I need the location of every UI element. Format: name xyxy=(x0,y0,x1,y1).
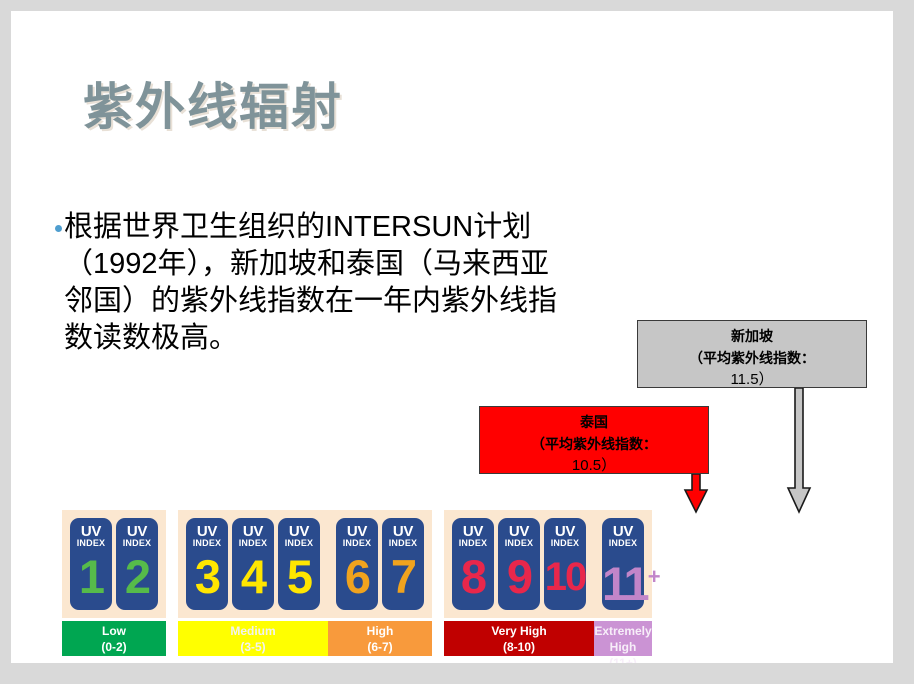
uv-band-high: High(6-7) xyxy=(328,621,432,656)
uv-band-range: (11+) xyxy=(594,655,652,663)
uv-card-3[interactable]: UVINDEX3 xyxy=(186,518,228,610)
uv-card-sublabel: INDEX xyxy=(452,539,494,548)
uv-card-sublabel: INDEX xyxy=(602,539,644,548)
uv-band-label: Very High xyxy=(444,623,594,639)
uv-group-high: UVINDEX6UVINDEX7High(6-7) xyxy=(328,510,432,618)
uv-card-label: UV xyxy=(186,524,228,539)
uv-card-label: UV xyxy=(70,524,112,539)
uv-index-scale: UVINDEX1UVINDEX2Low(0-2)UVINDEX3UVINDEX4… xyxy=(62,510,862,656)
uv-band-label: Low xyxy=(62,623,166,639)
uv-band-label: Medium xyxy=(178,623,328,639)
uv-card-11plus[interactable]: UVINDEX11+ xyxy=(602,518,644,610)
body-text-block: 根据世界卫生组织的INTERSUN计划（1992年），新加坡和泰国（马来西亚邻国… xyxy=(55,209,575,357)
uv-card-6[interactable]: UVINDEX6 xyxy=(336,518,378,610)
uv-card-number: 3 xyxy=(186,548,228,606)
uv-cards-container: UVINDEX1UVINDEX2 xyxy=(62,510,166,618)
uv-group-very-high: UVINDEX8UVINDEX9UVINDEX10Very High(8-10) xyxy=(444,510,594,618)
uv-card-label: UV xyxy=(382,524,424,539)
uv-card-number: 5 xyxy=(278,548,320,606)
uv-card-sublabel: INDEX xyxy=(544,539,586,548)
uv-card-label: UV xyxy=(278,524,320,539)
uv-card-label: UV xyxy=(602,524,644,539)
uv-band-label: High xyxy=(328,623,432,639)
uv-band-range: (0-2) xyxy=(62,639,166,655)
uv-card-number: 2 xyxy=(116,548,158,606)
uv-cards-container: UVINDEX3UVINDEX4UVINDEX5 xyxy=(178,510,328,618)
uv-card-number: 8 xyxy=(452,548,494,606)
uv-card-number: 4 xyxy=(232,548,274,606)
uv-card-label: UV xyxy=(232,524,274,539)
uv-group-medium: UVINDEX3UVINDEX4UVINDEX5Medium(3-5) xyxy=(178,510,328,618)
uv-card-sublabel: INDEX xyxy=(498,539,540,548)
uv-card-label: UV xyxy=(116,524,158,539)
callout-thailand: 泰国 （平均紫外线指数： 10.5） xyxy=(479,406,709,474)
uv-band-extremely-high: Extremely High(11+) xyxy=(594,621,652,656)
callout-singapore-line1: 新加坡 xyxy=(638,325,866,347)
arrow-down-thailand-icon xyxy=(683,474,709,514)
callout-singapore-line3: 11.5） xyxy=(638,369,866,391)
uv-card-number: 1 xyxy=(70,548,112,606)
uv-card-7[interactable]: UVINDEX7 xyxy=(382,518,424,610)
callout-thailand-line2: （平均紫外线指数： xyxy=(480,433,708,455)
uv-band-very-high: Very High(8-10) xyxy=(444,621,594,656)
uv-cards-container: UVINDEX6UVINDEX7 xyxy=(328,510,432,618)
uv-card-4[interactable]: UVINDEX4 xyxy=(232,518,274,610)
uv-card-number: 6 xyxy=(336,548,378,606)
uv-band-low: Low(0-2) xyxy=(62,621,166,656)
uv-card-sublabel: INDEX xyxy=(336,539,378,548)
uv-card-sublabel: INDEX xyxy=(382,539,424,548)
uv-card-label: UV xyxy=(336,524,378,539)
uv-card-number: 11+ xyxy=(602,548,644,613)
uv-card-8[interactable]: UVINDEX8 xyxy=(452,518,494,610)
callout-thailand-line3: 10.5） xyxy=(480,455,708,477)
uv-band-label: Extremely High xyxy=(594,623,652,655)
uv-card-sublabel: INDEX xyxy=(186,539,228,548)
bullet-text: 根据世界卫生组织的INTERSUN计划（1992年），新加坡和泰国（马来西亚邻国… xyxy=(64,209,575,357)
uv-band-medium: Medium(3-5) xyxy=(178,621,328,656)
uv-card-1[interactable]: UVINDEX1 xyxy=(70,518,112,610)
uv-card-sublabel: INDEX xyxy=(70,539,112,548)
callout-singapore: 新加坡 （平均紫外线指数： 11.5） xyxy=(637,320,867,388)
page-title: 紫外线辐射 xyxy=(83,67,343,139)
callout-thailand-line1: 泰国 xyxy=(480,411,708,433)
uv-card-number: 9 xyxy=(498,548,540,606)
slide-canvas: 紫外线辐射 根据世界卫生组织的INTERSUN计划（1992年），新加坡和泰国（… xyxy=(11,11,893,663)
uv-card-label: UV xyxy=(452,524,494,539)
bullet-dot-icon xyxy=(55,225,62,232)
uv-card-2[interactable]: UVINDEX2 xyxy=(116,518,158,610)
uv-group-extremely-high: UVINDEX11+Extremely High(11+) xyxy=(594,510,652,618)
uv-card-number: 7 xyxy=(382,548,424,606)
uv-band-range: (3-5) xyxy=(178,639,328,655)
uv-card-label: UV xyxy=(544,524,586,539)
uv-card-number: 10 xyxy=(544,548,586,606)
arrow-down-singapore-icon xyxy=(786,388,812,514)
uv-card-9[interactable]: UVINDEX9 xyxy=(498,518,540,610)
callout-singapore-line2: （平均紫外线指数： xyxy=(638,347,866,369)
uv-card-5[interactable]: UVINDEX5 xyxy=(278,518,320,610)
uv-card-sublabel: INDEX xyxy=(278,539,320,548)
uv-cards-container: UVINDEX11+ xyxy=(594,510,652,618)
bullet-item: 根据世界卫生组织的INTERSUN计划（1992年），新加坡和泰国（马来西亚邻国… xyxy=(55,209,575,357)
uv-band-range: (6-7) xyxy=(328,639,432,655)
uv-card-sublabel: INDEX xyxy=(232,539,274,548)
uv-card-10[interactable]: UVINDEX10 xyxy=(544,518,586,610)
uv-band-range: (8-10) xyxy=(444,639,594,655)
uv-card-label: UV xyxy=(498,524,540,539)
uv-cards-container: UVINDEX8UVINDEX9UVINDEX10 xyxy=(444,510,594,618)
uv-group-low: UVINDEX1UVINDEX2Low(0-2) xyxy=(62,510,166,618)
uv-card-sublabel: INDEX xyxy=(116,539,158,548)
